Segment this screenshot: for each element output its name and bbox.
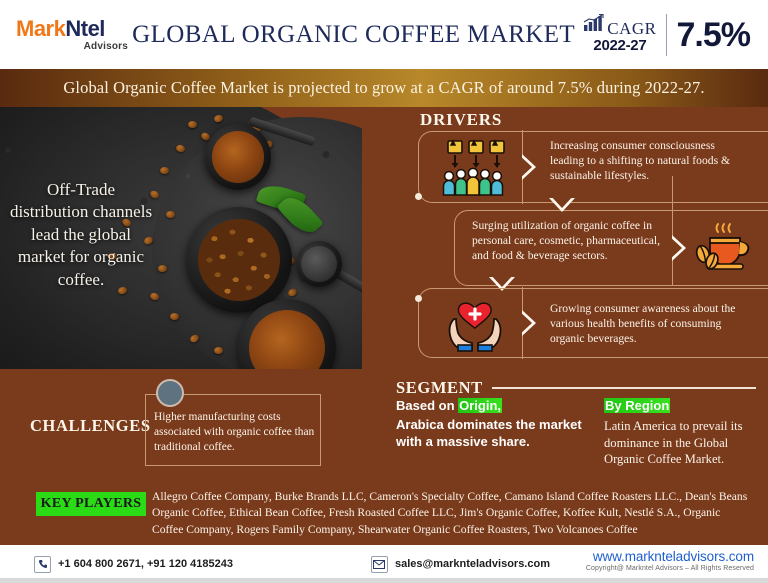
segment-origin-title-plain: Based on (396, 398, 458, 413)
coffee-bean (158, 265, 167, 272)
footer-website-url[interactable]: www.marknteladvisors.com (586, 549, 754, 564)
portafilter-empty (296, 241, 342, 287)
footer-email[interactable]: sales@marknteladvisors.com (233, 556, 550, 573)
segment-rule (492, 387, 756, 389)
cagr-block: CAGR 2022-27 7.5% (583, 14, 768, 56)
page-header: MarkNtel Advisors GLOBAL ORGANIC COFFEE … (0, 0, 768, 69)
segment-region-title: By Region (604, 398, 760, 415)
footer-phone-text: +1 604 800 2671, +91 120 4185243 (58, 558, 233, 570)
subtitle-bar: Global Organic Coffee Market is projecte… (0, 69, 768, 107)
bowl-whole-beans (186, 207, 292, 313)
coffee-bean (170, 313, 179, 320)
driver-bullet-3 (415, 295, 422, 302)
key-players-badge: KEY PLAYERS (36, 492, 146, 516)
segment-origin-body: Arabica dominates the market with a mass… (396, 417, 582, 451)
coffee-bean (166, 211, 175, 218)
driver-chevron-notch-1 (518, 154, 532, 180)
ground-coffee-2 (249, 310, 325, 369)
driver-chevron-down-notch-1 (549, 194, 575, 208)
cagr-label-row: CAGR (583, 14, 656, 37)
footer-copyright: Copyright@ Markntel Advisors – All Right… (586, 565, 754, 572)
driver-row-3[interactable]: Growing consumer awareness about the var… (418, 288, 758, 358)
portafilter-basket (301, 246, 337, 282)
footer-website-block[interactable]: www.marknteladvisors.com Copyright@ Mark… (586, 549, 754, 572)
driver-separator-2 (672, 176, 673, 286)
driver-text-2: Surging utilization of organic coffee in… (472, 219, 668, 263)
subtitle-text: Global Organic Coffee Market is projecte… (63, 78, 704, 98)
cagr-value: 7.5% (667, 18, 751, 52)
challenges-text: Higher manufacturing costs associated wi… (154, 410, 316, 454)
segment-column-region: By Region Latin America to prevail its d… (604, 398, 760, 468)
drivers-heading: DRIVERS (420, 110, 502, 130)
footer-phone[interactable]: +1 604 800 2671, +91 120 4185243 (0, 556, 233, 573)
driver-text-1: Increasing consumer consciousness leadin… (550, 139, 746, 183)
footer-email-text: sales@marknteladvisors.com (395, 558, 550, 570)
cagr-label: CAGR (607, 20, 656, 37)
segment-origin-title-highlight: Origin, (458, 398, 502, 413)
logo-text-ntel: Ntel (65, 16, 105, 41)
key-players-badge-label: KEY PLAYERS (41, 496, 142, 512)
segment-column-origin: Based on Origin, Arabica dominates the m… (396, 398, 582, 450)
coffee-bean (214, 347, 223, 354)
logo-text-mark: Mark (16, 16, 65, 41)
challenges-marker-circle (156, 379, 184, 407)
driver-icon-2 (694, 220, 756, 276)
key-players-list: Allegro Coffee Company, Burke Brands LLC… (152, 489, 752, 538)
logo-tagline: Advisors (16, 41, 130, 52)
driver-icon-1 (440, 137, 512, 197)
page-title: GLOBAL ORGANIC COFFEE MARKET (130, 21, 583, 49)
driver-icon-3 (442, 293, 508, 353)
footer-bottom-bar (0, 578, 768, 583)
phone-icon (34, 556, 51, 573)
photo-caption: Off-Trade distribution channels lead the… (6, 179, 156, 291)
driver-bullet-1 (415, 193, 422, 200)
coffee-bean (188, 121, 197, 128)
challenges-heading: CHALLENGES (30, 416, 151, 436)
segment-heading: SEGMENT (396, 378, 483, 398)
segment-region-body: Latin America to prevail its dominance i… (604, 418, 760, 469)
coffee-photo: Off-Trade distribution channels lead the… (0, 107, 362, 369)
portafilter-ground-coffee (205, 124, 271, 190)
segment-origin-title: Based on Origin, (396, 398, 582, 415)
driver-text-3: Growing consumer awareness about the var… (550, 302, 750, 346)
envelope-icon (371, 556, 388, 573)
ground-coffee (212, 131, 264, 183)
whole-coffee-beans (198, 219, 281, 302)
segment-region-title-highlight: By Region (604, 398, 670, 413)
bar-chart-icon (583, 14, 604, 37)
cagr-period: 2022-27 (593, 37, 646, 55)
brand-logo[interactable]: MarkNtel Advisors (0, 18, 130, 52)
coffee-bean (160, 167, 169, 174)
driver-chevron-down-notch-2 (489, 273, 515, 287)
driver-chevron-notch-3 (518, 310, 532, 336)
cagr-label-group: CAGR 2022-27 (583, 14, 665, 55)
logo-wordmark: MarkNtel (16, 18, 130, 40)
driver-row-1[interactable]: Increasing consumer consciousness leadin… (418, 131, 758, 203)
driver-chevron-notch-2 (668, 235, 682, 261)
